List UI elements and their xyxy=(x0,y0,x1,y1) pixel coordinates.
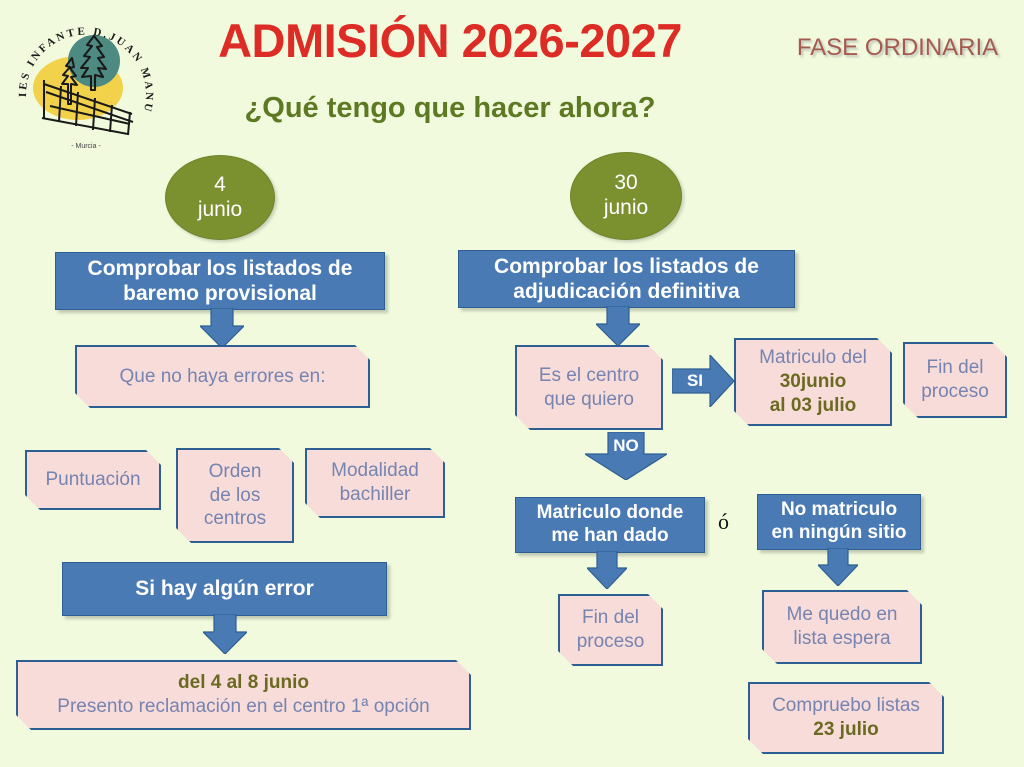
left-check-label-box: Que no haya errores en: xyxy=(75,345,370,408)
decision-es-el-centro: Es el centro que quiero xyxy=(515,345,663,430)
arrow-down-left-2 xyxy=(203,614,247,654)
check-item-orden-line3: centros xyxy=(204,507,266,531)
check-item-modalidad-bachiller: Modalidad bachiller xyxy=(305,448,445,518)
check-item-puntuacion-line1: Puntuación xyxy=(45,468,140,492)
left-step-line1: Comprobar los listados de xyxy=(88,256,353,281)
right-step-line2: adjudicación definitiva xyxy=(513,279,739,304)
left-step-check-provisional: Comprobar los listados de baremo provisi… xyxy=(55,252,385,310)
check-item-orden-line2: de los xyxy=(210,484,261,508)
end-process-box-1: Fin del proceso xyxy=(903,342,1007,418)
date-badge-4-junio: 4 junio xyxy=(165,155,275,240)
date-badge-30-junio: 30 junio xyxy=(570,152,682,240)
arrow-down-right-3 xyxy=(818,548,858,586)
arrow-label-si: SI xyxy=(664,371,726,391)
arrow-down-no: NO xyxy=(585,432,667,480)
end-process-1-line1: Fin del xyxy=(926,356,983,380)
phase-label: FASE ORDINARIA xyxy=(790,34,1005,62)
enroll-bold1: 30junio xyxy=(780,370,847,394)
school-logo: IES INFANTE D.JUAN MANUEL - Murcia - xyxy=(6,6,166,156)
waiting-list-box: Me quedo en lista espera xyxy=(762,590,922,664)
no-branch-left-line2: me han dado xyxy=(551,525,668,548)
right-step-check-definitiva: Comprobar los listados de adjudicación d… xyxy=(458,250,795,308)
waiting-list-line1: Me quedo en xyxy=(787,603,898,627)
end-process-2-line1: Fin del xyxy=(582,606,639,630)
check-lists-line1: Compruebo listas xyxy=(772,694,920,718)
end-process-box-2: Fin del proceso xyxy=(558,594,663,666)
arrow-down-right-1 xyxy=(596,306,640,346)
check-item-orden-line1: Orden xyxy=(209,460,262,484)
page-subtitle: ¿Qué tengo que hacer ahora? xyxy=(180,92,720,125)
left-step-line2: baremo provisional xyxy=(123,281,317,306)
arrow-label-no: NO xyxy=(585,436,667,456)
svg-text:- Murcia -: - Murcia - xyxy=(71,143,101,150)
left-claim-text: Presento reclamación en el centro 1ª opc… xyxy=(57,695,429,719)
decision-line2: que quiero xyxy=(544,388,634,412)
slide-canvas: IES INFANTE D.JUAN MANUEL - Murcia - ADM… xyxy=(0,0,1024,767)
left-claim-box: del 4 al 8 junio Presento reclamación en… xyxy=(16,660,471,730)
date-badge-30-month: junio xyxy=(604,196,648,221)
check-item-modalidad-line2: bachiller xyxy=(340,483,411,507)
check-item-modalidad-line1: Modalidad xyxy=(331,459,419,483)
waiting-list-line2: lista espera xyxy=(793,627,890,651)
or-separator: ó xyxy=(718,509,729,535)
check-item-orden-centros: Orden de los centros xyxy=(176,448,294,543)
enroll-bold2: al 03 julio xyxy=(770,394,857,418)
arrow-down-right-2 xyxy=(587,551,627,589)
check-item-puntuacion: Puntuación xyxy=(25,450,161,510)
end-process-1-line2: proceso xyxy=(921,380,989,404)
left-error-text: Si hay algún error xyxy=(135,576,314,601)
check-lists-box: Compruebo listas 23 julio xyxy=(748,682,944,754)
left-claim-dates: del 4 al 8 junio xyxy=(178,671,309,695)
end-process-2-line2: proceso xyxy=(577,630,645,654)
right-step-line1: Comprobar los listados de xyxy=(494,254,759,279)
arrow-right-si: SI xyxy=(672,355,734,407)
no-branch-right-line2: en ningún sitio xyxy=(771,522,906,545)
no-branch-right-line1: No matriculo xyxy=(781,499,897,522)
date-badge-day: 4 xyxy=(214,173,226,198)
date-badge-30-day: 30 xyxy=(614,171,637,196)
arrow-down-left-1 xyxy=(200,308,244,348)
no-branch-left-line1: Matriculo donde xyxy=(537,502,684,525)
left-error-box: Si hay algún error xyxy=(62,562,387,616)
decision-line1: Es el centro xyxy=(539,364,639,388)
page-title: ADMISIÓN 2026-2027 xyxy=(180,16,720,65)
date-badge-month: junio xyxy=(198,198,242,223)
enroll-box: Matriculo del 30junio al 03 julio xyxy=(734,338,892,426)
check-lists-date: 23 julio xyxy=(813,718,878,742)
no-branch-no-enroll: No matriculo en ningún sitio xyxy=(757,494,921,550)
left-check-label-text: Que no haya errores en: xyxy=(120,365,326,389)
enroll-line1: Matriculo del xyxy=(759,346,867,370)
no-branch-enroll-given: Matriculo donde me han dado xyxy=(515,497,705,553)
